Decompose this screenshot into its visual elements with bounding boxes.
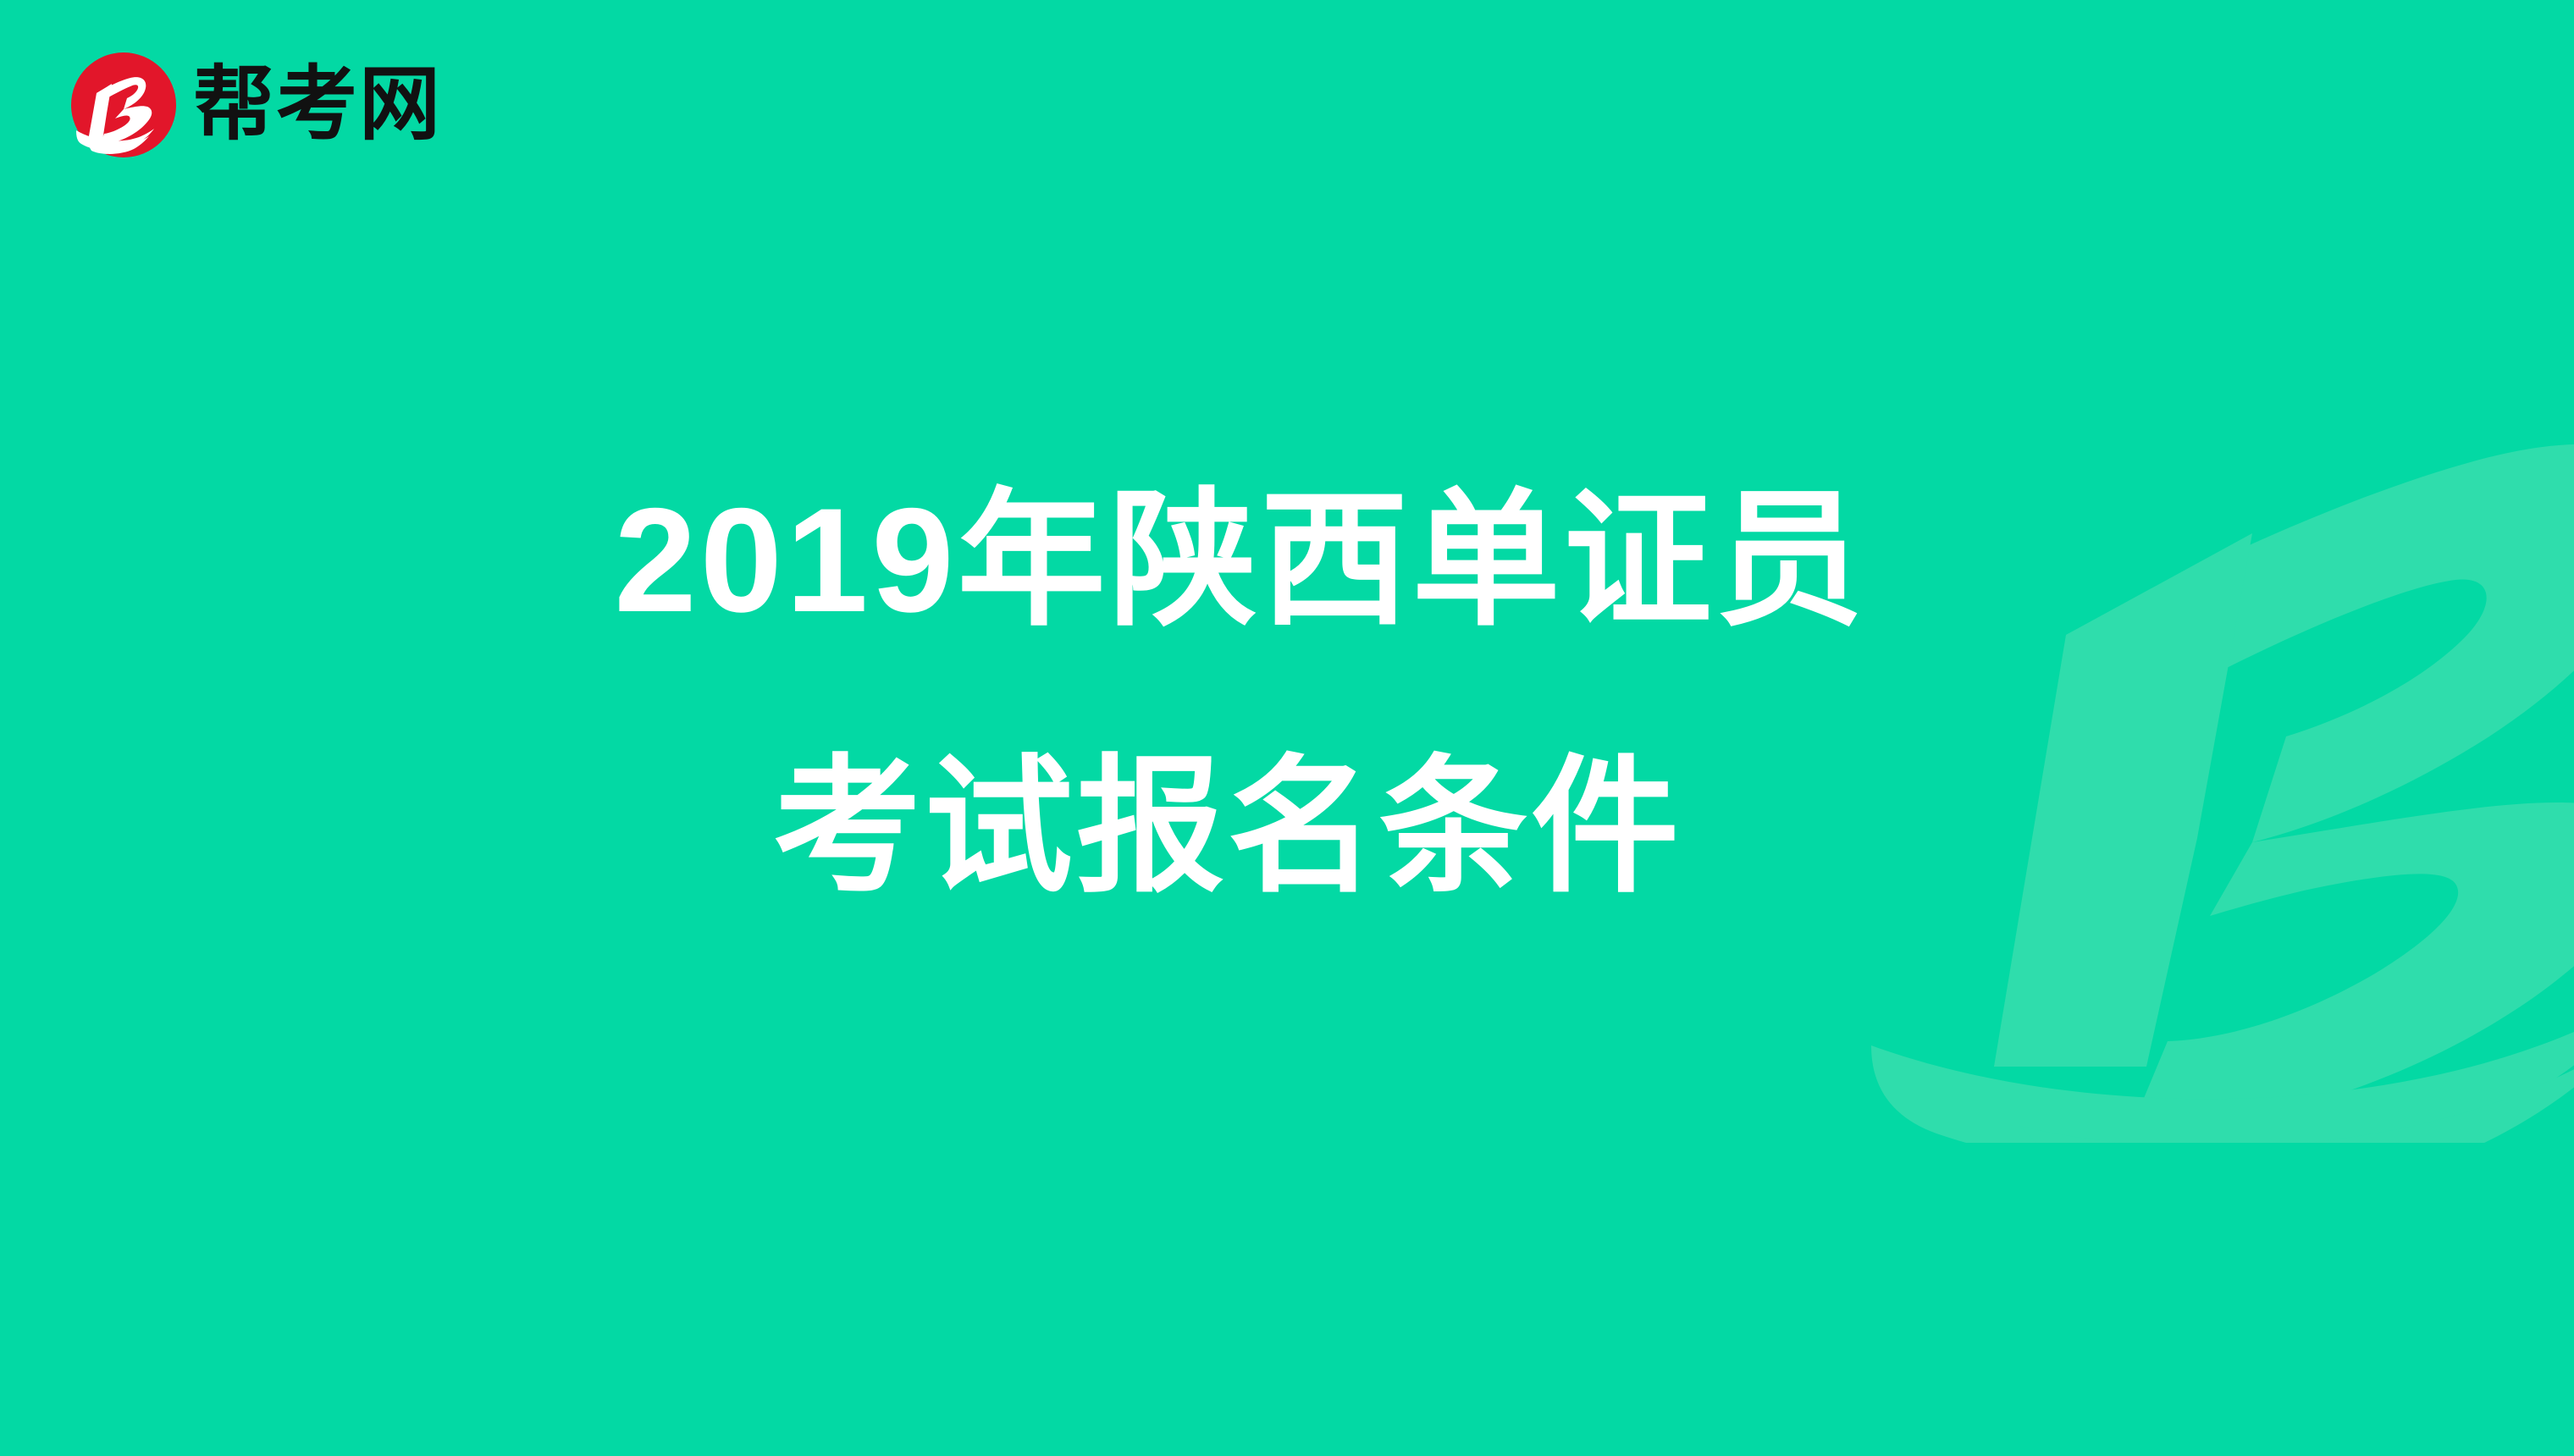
page-title: 2019年陕西单证员 考试报名条件 — [0, 474, 2574, 914]
brand-logo[interactable]: 帮考网 — [68, 49, 442, 161]
bangkao-b-logo-icon — [68, 49, 180, 161]
poster-canvas: 帮考网 2019年陕西单证员 考试报名条件 — [0, 0, 2574, 1456]
page-title-line-1: 2019年陕西单证员 — [0, 474, 2574, 648]
page-title-line-2: 考试报名条件 — [0, 741, 2574, 914]
brand-name: 帮考网 — [193, 64, 442, 146]
